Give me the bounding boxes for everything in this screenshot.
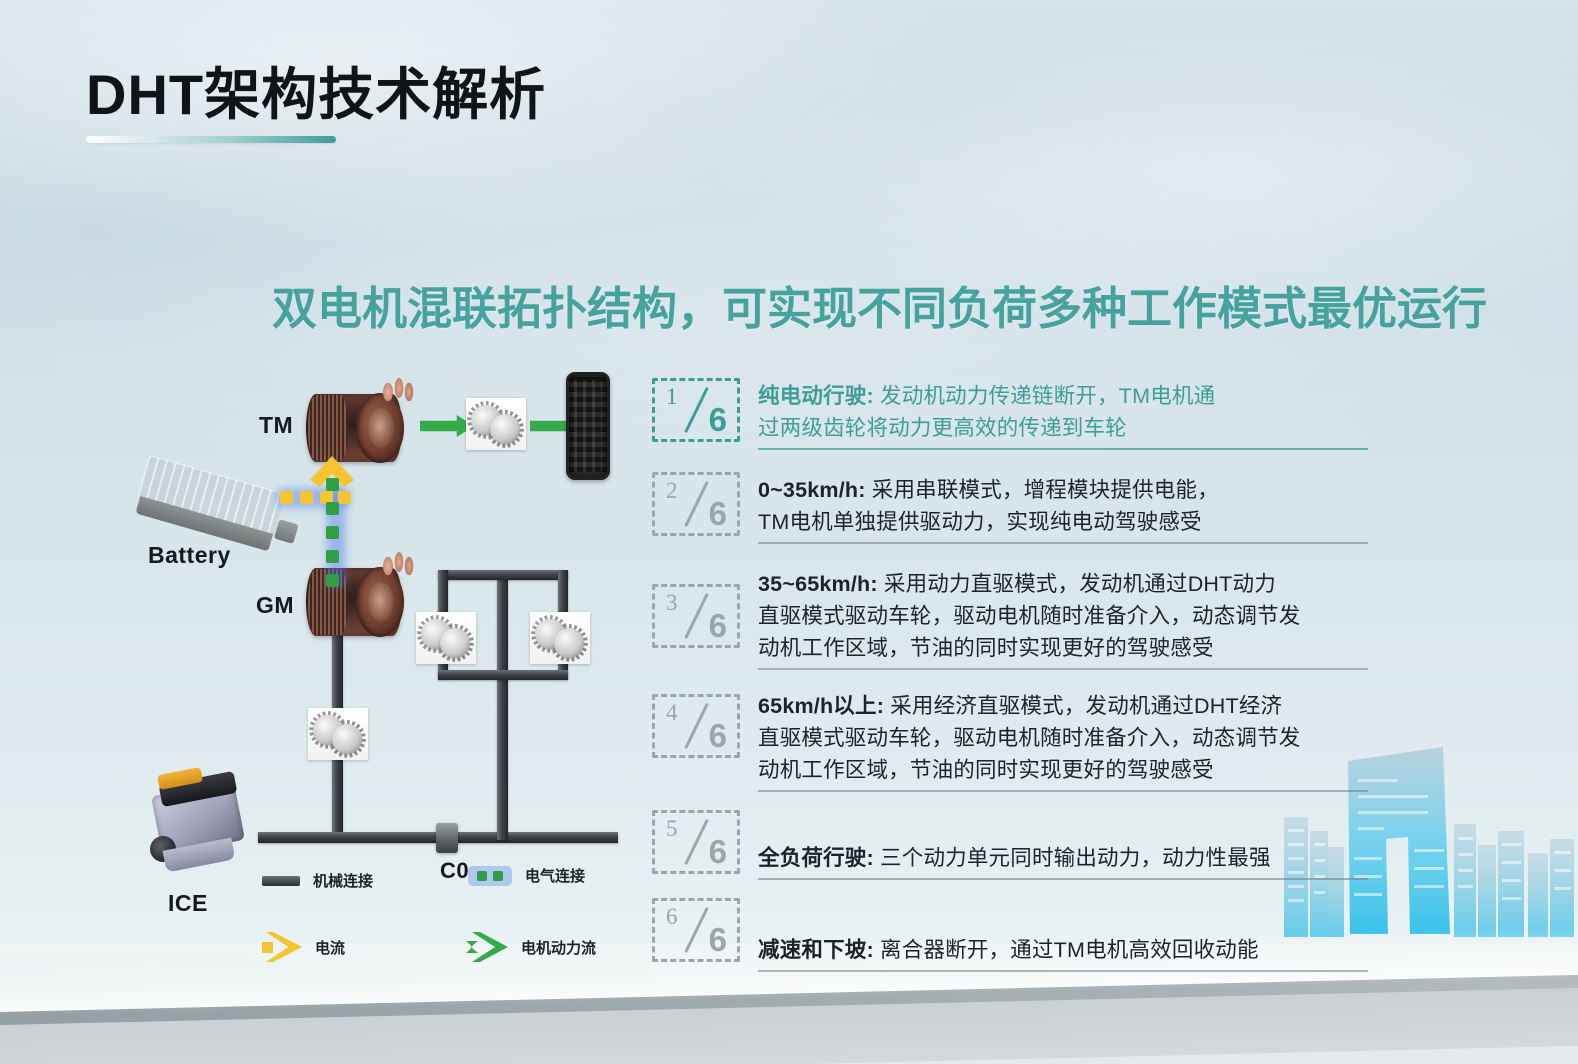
battery-label: Battery (148, 542, 231, 569)
badge-4-of-6: 4 6 (652, 694, 740, 758)
title-underline (86, 136, 336, 143)
list-item-line: TM电机单独提供驱动力，实现纯电动驾驶感受 (758, 506, 1368, 538)
badge-denominator: 6 (709, 921, 727, 959)
gear-hub-b (490, 414, 520, 444)
legend-label: 电机动力流 (521, 937, 596, 958)
list-item-line: 0~35km/h: 采用串联模式，增程模块提供电能， (758, 474, 1368, 506)
legend-label: 机械连接 (313, 870, 373, 891)
badge-3-of-6: 3 6 (652, 584, 740, 648)
badge-numerator: 1 (666, 384, 678, 410)
list-item-line: 纯电动行驶: 发动机动力传递链断开，TM电机通 (758, 380, 1368, 412)
mechanical-connection-swatch-icon (262, 876, 300, 886)
legend-item-mechanical-connection: 机械连接 (262, 870, 373, 891)
list-item-text: 65km/h以上: 采用经济直驱模式，发动机通过DHT经济 直驱模式驱动车轮，驱… (758, 688, 1368, 792)
gm-motor-wires (380, 550, 420, 584)
badge-numerator: 5 (666, 816, 678, 842)
gm-motor-graphic (302, 556, 418, 648)
badge-numerator: 6 (666, 904, 678, 930)
list-item-line: 动机工作区域，节油的同时实现更好的驾驶感受 (758, 754, 1368, 786)
gearbox-gm-reduction (308, 708, 368, 760)
dht-architecture-diagram: C0 TM GM Battery (120, 360, 640, 1000)
page-title: DHT架构技术解析 (86, 66, 546, 125)
badge-denominator: 6 (709, 401, 727, 439)
list-item-separator (758, 448, 1368, 450)
battery-connector (274, 519, 299, 544)
electrical-connection-swatch-icon (468, 866, 512, 886)
list-item-separator (758, 542, 1368, 544)
list-item-line: 过两级齿轮将动力更高效的传递到车轮 (758, 412, 1368, 444)
legend-item-electrical-connection: 电气连接 (468, 865, 585, 886)
badge-denominator: 6 (709, 607, 727, 645)
clutch-c0 (436, 823, 458, 853)
list-item-line: 全负荷行驶: 三个动力单元同时输出动力，动力性最强 (758, 842, 1368, 874)
gearbox-branch-left (416, 612, 476, 664)
list-item-separator (758, 790, 1368, 792)
slide-root: DHT架构技术解析 双电机混联拓扑结构，可实现不同负荷多种工作模式最优运行 C0… (0, 0, 1578, 1064)
legend-label: 电气连接 (525, 865, 585, 886)
title-block: DHT架构技术解析 (86, 66, 546, 143)
badge-denominator: 6 (709, 833, 727, 871)
badge-numerator: 4 (666, 700, 678, 726)
list-item[interactable]: 5 6 全负荷行驶: 三个动力单元同时输出动力，动力性最强 (652, 810, 1368, 880)
legend-item-current-flow: 电流 (262, 932, 345, 962)
tm-motor-graphic (302, 382, 418, 474)
gear-hub-b (440, 628, 470, 658)
shaft-branch-bottom (438, 670, 568, 680)
list-item[interactable]: 3 6 35~65km/h: 采用动力直驱模式，发动机通过DHT动力 直驱模式驱… (652, 566, 1368, 670)
list-item-line: 直驱模式驱动车轮，驱动电机随时准备介入，动态调节发 (758, 600, 1368, 632)
list-item-line: 直驱模式驱动车轮，驱动电机随时准备介入，动态调节发 (758, 722, 1368, 754)
list-item-separator (758, 970, 1368, 972)
legend-item-motor-power-flow: 电机动力流 (468, 932, 596, 962)
legend-label: 电流 (315, 937, 345, 958)
badge-5-of-6: 5 6 (652, 810, 740, 874)
ice-label: ICE (168, 890, 208, 917)
badge-numerator: 3 (666, 590, 678, 616)
list-item-line: 动机工作区域，节油的同时实现更好的驾驶感受 (758, 632, 1368, 664)
operating-modes-list: 1 6 纯电动行驶: 发动机动力传递链断开，TM电机通 过两级齿轮将动力更高效的… (652, 378, 1368, 972)
list-item-text: 纯电动行驶: 发动机动力传递链断开，TM电机通 过两级齿轮将动力更高效的传递到车… (758, 378, 1368, 450)
list-item[interactable]: 4 6 65km/h以上: 采用经济直驱模式，发动机通过DHT经济 直驱模式驱动… (652, 688, 1368, 792)
gear-hub-b (332, 724, 362, 754)
wheel-tire-graphic (566, 372, 610, 480)
list-item-line: 35~65km/h: 采用动力直驱模式，发动机通过DHT动力 (758, 568, 1368, 600)
list-item[interactable]: 2 6 0~35km/h: 采用串联模式，增程模块提供电能， TM电机单独提供驱… (652, 472, 1368, 544)
page-subtitle: 双电机混联拓扑结构，可实现不同负荷多种工作模式最优运行 (272, 272, 1487, 337)
list-item-line: 减速和下坡: 离合器断开，通过TM电机高效回收动能 (758, 934, 1368, 966)
gearbox-branch-right (530, 612, 590, 664)
list-item-separator (758, 878, 1368, 880)
list-item-text: 全负荷行驶: 三个动力单元同时输出动力，动力性最强 (758, 810, 1368, 880)
gearbox-tm-reduction (466, 398, 526, 450)
badge-6-of-6: 6 6 (652, 898, 740, 962)
gm-motor-label: GM (256, 592, 294, 619)
badge-denominator: 6 (709, 495, 727, 533)
tm-motor-ribs (308, 395, 348, 461)
motor-power-flow-arrow-icon (468, 932, 508, 962)
list-item-line: 65km/h以上: 采用经济直驱模式，发动机通过DHT经济 (758, 690, 1368, 722)
badge-numerator: 2 (666, 478, 678, 504)
badge-1-of-6: 1 6 (652, 378, 740, 442)
shaft-branch-top (438, 570, 568, 580)
badge-denominator: 6 (709, 717, 727, 755)
tm-motor-label: TM (259, 412, 293, 439)
badge-2-of-6: 2 6 (652, 472, 740, 536)
list-item-text: 减速和下坡: 离合器断开，通过TM电机高效回收动能 (758, 898, 1368, 972)
list-item-text: 0~35km/h: 采用串联模式，增程模块提供电能， TM电机单独提供驱动力，实… (758, 472, 1368, 544)
tm-motor-wires (380, 376, 420, 410)
list-item[interactable]: 6 6 减速和下坡: 离合器断开，通过TM电机高效回收动能 (652, 898, 1368, 972)
gear-hub-b (554, 628, 584, 658)
current-flow-arrow-icon (262, 932, 302, 962)
diagram-legend: 机械连接 电气连接 电流 电机动力流 (262, 870, 682, 980)
list-item-separator (758, 668, 1368, 670)
shaft-output-vertical (497, 570, 508, 840)
list-item[interactable]: 1 6 纯电动行驶: 发动机动力传递链断开，TM电机通 过两级齿轮将动力更高效的… (652, 378, 1368, 450)
ice-engine-graphic (142, 760, 260, 880)
list-item-text: 35~65km/h: 采用动力直驱模式，发动机通过DHT动力 直驱模式驱动车轮，… (758, 566, 1368, 670)
